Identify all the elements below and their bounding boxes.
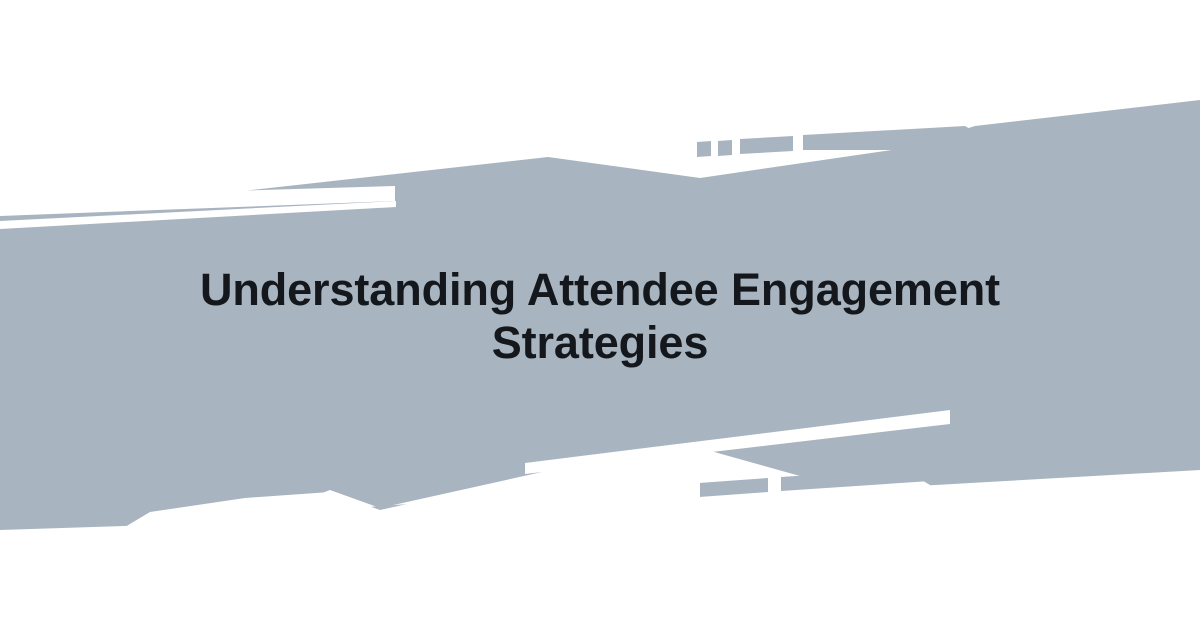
top-dash-segment-2 [718,140,732,156]
top-dash-segment-3 [740,136,793,154]
decorative-background-graphic [0,0,1200,630]
banner-card: Understanding Attendee Engagement Strate… [0,0,1200,630]
bottom-accent-dash [750,479,767,493]
top-dash-segment-1 [697,141,711,157]
